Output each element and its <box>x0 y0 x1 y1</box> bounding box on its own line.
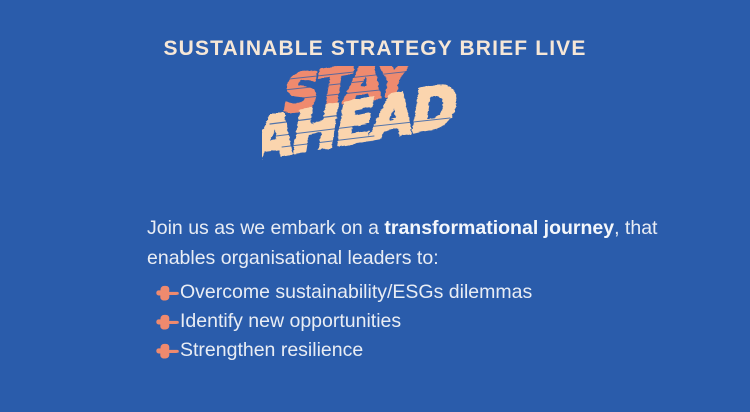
list-item: Identify new opportunities <box>156 307 532 336</box>
page-title: SUSTAINABLE STRATEGY BRIEF LIVE <box>0 38 750 59</box>
pointing-hand-icon <box>156 343 179 360</box>
list-item: Overcome sustainability/ESGs dilemmas <box>156 278 532 307</box>
intro-paragraph: Join us as we embark on a transformation… <box>147 213 687 273</box>
pointing-hand-icon <box>156 285 179 302</box>
promotional-slide: SUSTAINABLE STRATEGY BRIEF LIVE <box>0 0 750 412</box>
intro-emphasis: transformational journey <box>384 217 614 239</box>
benefit-label: Strengthen resilience <box>180 341 363 361</box>
intro-lead: Join us as we embark on a <box>147 217 384 239</box>
benefit-label: Overcome sustainability/ESGs dilemmas <box>180 283 532 303</box>
benefit-label: Identify new opportunities <box>180 312 401 332</box>
pointing-hand-icon <box>156 314 179 331</box>
benefits-list: Overcome sustainability/ESGs dilemmas Id… <box>156 278 532 365</box>
list-item: Strengthen resilience <box>156 336 532 365</box>
stay-ahead-logo: STAY AHEAD <box>262 66 498 166</box>
